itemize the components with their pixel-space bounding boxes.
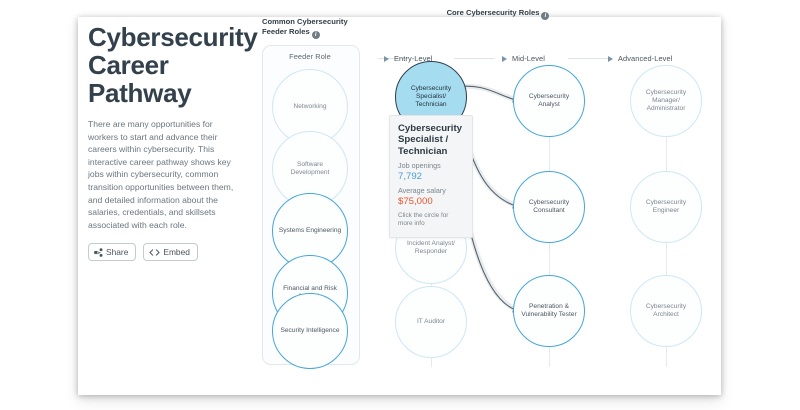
entry-node-it-auditor[interactable]: IT Auditor bbox=[395, 286, 467, 358]
node-label: Systems Engineering bbox=[275, 227, 345, 235]
chevron-right-icon bbox=[502, 56, 507, 62]
node-label: Cybersecurity Architect bbox=[631, 303, 701, 319]
header-rule-3 bbox=[568, 58, 608, 59]
share-icon bbox=[94, 248, 103, 257]
node-label: Cybersecurity Consultant bbox=[514, 199, 584, 215]
page-title: Cybersecurity Career Pathway bbox=[88, 23, 236, 107]
tooltip-hint: Click the circle for more info bbox=[398, 212, 464, 228]
embed-button[interactable]: Embed bbox=[143, 243, 198, 261]
core-info-icon[interactable]: i bbox=[541, 12, 549, 20]
core-heading-text: Core Cybersecurity Roles bbox=[447, 8, 540, 17]
tooltip-title: Cybersecurity Specialist / Technician bbox=[398, 123, 464, 157]
tooltip-salary-label: Average salary bbox=[398, 186, 464, 195]
pathway-card: Cybersecurity Career Pathway There are m… bbox=[78, 17, 721, 395]
mid-node-penetration-vulnerability-tester[interactable]: Penetration & Vulnerability Tester bbox=[513, 275, 585, 347]
node-label: Security Intelligence bbox=[276, 327, 343, 335]
action-buttons: Share Embed bbox=[88, 243, 236, 261]
tooltip-salary-value: $75,000 bbox=[398, 196, 464, 207]
core-heading: Core Cybersecurity Rolesi bbox=[278, 8, 718, 20]
column-header-mid: Mid-Level bbox=[502, 54, 545, 63]
intro-column: Cybersecurity Career Pathway There are m… bbox=[88, 23, 236, 261]
node-label: IT Auditor bbox=[413, 318, 449, 326]
mid-node-cybersecurity-consultant[interactable]: Cybersecurity Consultant bbox=[513, 171, 585, 243]
intro-paragraph: There are many opportunities for workers… bbox=[88, 118, 236, 231]
chevron-right-icon bbox=[384, 56, 389, 62]
advanced-node-cybersecurity-manager[interactable]: Cybersecurity Manager/ Administrator bbox=[630, 65, 702, 137]
column-header-advanced: Advanced-Level bbox=[608, 54, 672, 63]
mid-node-cybersecurity-analyst[interactable]: Cybersecurity Analyst bbox=[513, 65, 585, 137]
node-label: Cybersecurity Specialist/ Technician bbox=[396, 85, 466, 110]
advanced-node-cybersecurity-engineer[interactable]: Cybersecurity Engineer bbox=[630, 171, 702, 243]
screenshot-root: Cybersecurity Career Pathway There are m… bbox=[0, 0, 800, 410]
role-tooltip: Cybersecurity Specialist / Technician Jo… bbox=[389, 115, 473, 238]
share-button[interactable]: Share bbox=[88, 243, 136, 261]
tooltip-openings-value: 7,792 bbox=[398, 171, 464, 182]
feeder-node-security-intelligence[interactable]: Security Intelligence bbox=[272, 293, 348, 369]
node-label: Software Development bbox=[273, 161, 347, 177]
share-button-label: Share bbox=[106, 247, 128, 257]
tooltip-openings-label: Job openings bbox=[398, 161, 464, 170]
column-label: Mid-Level bbox=[512, 54, 545, 63]
node-label: Cybersecurity Engineer bbox=[631, 199, 701, 215]
feeder-column-label: Feeder Role bbox=[262, 52, 358, 61]
advanced-node-cybersecurity-architect[interactable]: Cybersecurity Architect bbox=[630, 275, 702, 347]
node-label: Incident Analyst/ Responder bbox=[396, 240, 466, 256]
node-label: Cybersecurity Manager/ Administrator bbox=[631, 89, 701, 114]
node-label: Cybersecurity Analyst bbox=[514, 93, 584, 109]
header-rule-2 bbox=[454, 58, 494, 59]
feeder-info-icon[interactable]: i bbox=[312, 31, 320, 39]
node-label: Penetration & Vulnerability Tester bbox=[514, 303, 584, 319]
code-brackets-icon bbox=[149, 248, 160, 257]
feeder-heading: Common Cybersecurity Feeder Rolesi bbox=[262, 17, 374, 39]
column-label: Advanced-Level bbox=[618, 54, 672, 63]
chevron-right-icon bbox=[608, 56, 613, 62]
node-label: Networking bbox=[290, 103, 331, 111]
embed-button-label: Embed bbox=[163, 247, 190, 257]
